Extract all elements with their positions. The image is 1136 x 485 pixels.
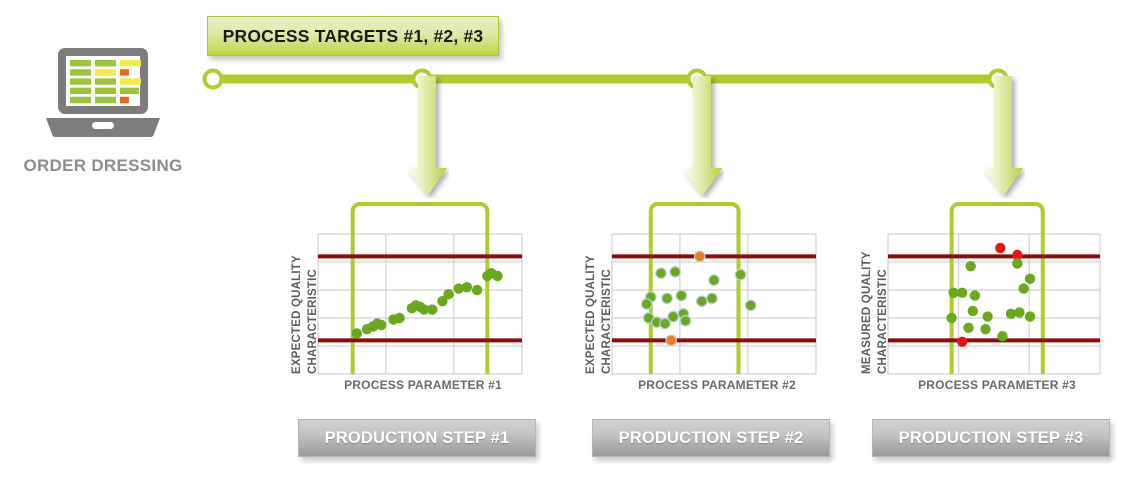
chart-3-data-point-3[interactable] (1012, 258, 1022, 268)
chart-3-data-point-1[interactable] (995, 243, 1005, 253)
production-step-1-banner[interactable]: PRODUCTION STEP #1 (298, 419, 536, 457)
chart-3-data-point-8[interactable] (957, 288, 967, 298)
chart-3-data-point-12[interactable] (982, 311, 992, 321)
chart-1-data-point-16[interactable] (462, 282, 472, 292)
production-step-2-label: PRODUCTION STEP #2 (619, 429, 804, 448)
process-timeline (200, 62, 1020, 96)
process-targets-banner[interactable]: PROCESS TARGETS #1, #2, #3 (207, 16, 499, 56)
infographic-canvas: ORDER DRESSING PROCESS TARGETS #1, #2, #… (0, 0, 1136, 485)
laptop-bar-1-2 (95, 60, 116, 66)
laptop-bar-5-3 (120, 97, 129, 103)
chart-2-data-point-3[interactable] (695, 251, 705, 261)
laptop-bar-3-3 (120, 78, 141, 84)
chart-1-data-point-14[interactable] (443, 289, 453, 299)
chart-2-data-point-2[interactable] (670, 267, 680, 277)
chart-2-data-point-18[interactable] (680, 316, 690, 326)
laptop-bar-2-2 (95, 69, 116, 75)
chart-2-data-point-5[interactable] (735, 269, 745, 279)
chart-3-data-point-16[interactable] (963, 323, 973, 333)
arrow-to-step-1 (405, 76, 449, 198)
chart-2-data-point-9[interactable] (676, 290, 686, 300)
chart-3-data-point-4[interactable] (965, 261, 975, 271)
chart-3-data-point-10[interactable] (968, 306, 978, 316)
chart-2-data-point-1[interactable] (656, 268, 666, 278)
arrow-to-step-2 (680, 76, 724, 198)
chart-3-data-point-6[interactable] (1018, 283, 1028, 293)
laptop-bar-4-2 (95, 88, 116, 94)
chart-3-data-point-14[interactable] (1014, 307, 1024, 317)
chart-1-data-point-5[interactable] (376, 320, 386, 330)
laptop-bar-2-3 (120, 69, 129, 75)
chart-2-data-point-10[interactable] (697, 296, 707, 306)
production-step-3-label: PRODUCTION STEP #3 (899, 429, 1084, 448)
chart-3-data-point-5[interactable] (1025, 274, 1035, 284)
order-dressing-label: ORDER DRESSING (18, 156, 188, 176)
chart-2-data-point-7[interactable] (641, 299, 651, 309)
chart-2-data-point-8[interactable] (662, 293, 672, 303)
laptop-bar-3-2 (95, 78, 116, 84)
chart-3-data-point-9[interactable] (970, 290, 980, 300)
laptop-bar-1-3 (120, 60, 141, 66)
chart-2-data-point-11[interactable] (707, 293, 717, 303)
laptop-bar-5-1 (70, 97, 91, 103)
chart-2-data-point-4[interactable] (709, 275, 719, 285)
chart-3-x-axis-label: PROCESS PARAMETER #3 (888, 378, 1106, 392)
chart-2-plot[interactable] (572, 196, 822, 401)
chart-3-data-point-11[interactable] (946, 313, 956, 323)
arrow-to-step-3 (981, 76, 1025, 198)
laptop-bar-4-1 (70, 88, 91, 94)
laptop-bar-1-1 (70, 60, 91, 66)
chart-block-3: MEASURED QUALITY CHARACTERISTIC PROCESS … (848, 196, 1106, 401)
production-step-3-banner[interactable]: PRODUCTION STEP #3 (872, 419, 1110, 457)
chart-1-data-point-12[interactable] (427, 304, 437, 314)
chart-block-2: EXPECTED QUALITY CHARACTERISTIC PROCESS … (572, 196, 822, 401)
laptop-icon (44, 46, 162, 142)
laptop-bar-2-1 (70, 69, 91, 75)
laptop-bar-4-3 (120, 88, 139, 94)
production-step-2-banner[interactable]: PRODUCTION STEP #2 (592, 419, 830, 457)
chart-2-data-point-16[interactable] (668, 311, 678, 321)
chart-1-data-point-17[interactable] (472, 285, 482, 295)
chart-1-data-point-1[interactable] (352, 328, 362, 338)
laptop-bar-3-1 (70, 78, 91, 84)
order-dressing-block: ORDER DRESSING (18, 46, 188, 176)
chart-3-data-point-18[interactable] (997, 331, 1007, 341)
chart-block-1: EXPECTED QUALITY CHARACTERISTIC PROCESS … (278, 196, 528, 401)
chart-3-data-point-15[interactable] (1025, 311, 1035, 321)
laptop-bar-5-2 (95, 97, 116, 103)
production-step-1-label: PRODUCTION STEP #1 (325, 429, 510, 448)
chart-1-data-point-7[interactable] (394, 313, 404, 323)
timeline-node-1[interactable] (205, 71, 222, 88)
chart-1-data-point-20[interactable] (492, 271, 502, 281)
chart-3-data-point-17[interactable] (980, 324, 990, 334)
process-targets-label: PROCESS TARGETS #1, #2, #3 (223, 26, 484, 47)
chart-3-data-point-19[interactable] (957, 337, 967, 347)
chart-2-data-point-12[interactable] (746, 300, 756, 310)
chart-2-data-point-19[interactable] (666, 335, 676, 345)
chart-1-x-axis-label: PROCESS PARAMETER #1 (318, 378, 528, 392)
chart-2-x-axis-label: PROCESS PARAMETER #2 (612, 378, 822, 392)
chart-3-plot[interactable] (848, 196, 1106, 401)
chart-1-plot[interactable] (278, 196, 528, 401)
